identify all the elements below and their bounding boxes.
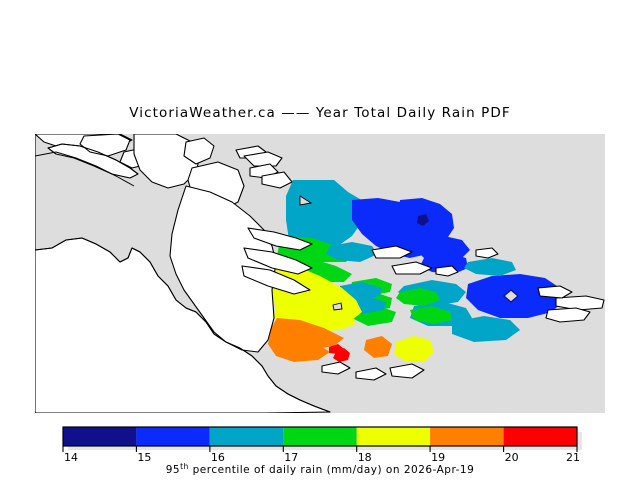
map-panel xyxy=(0,0,640,480)
landmass-east-spit-2 xyxy=(546,308,590,322)
weather-map-figure: VictoriaWeather.ca —— Year Total Daily R… xyxy=(0,0,640,480)
map-svg xyxy=(0,0,640,480)
